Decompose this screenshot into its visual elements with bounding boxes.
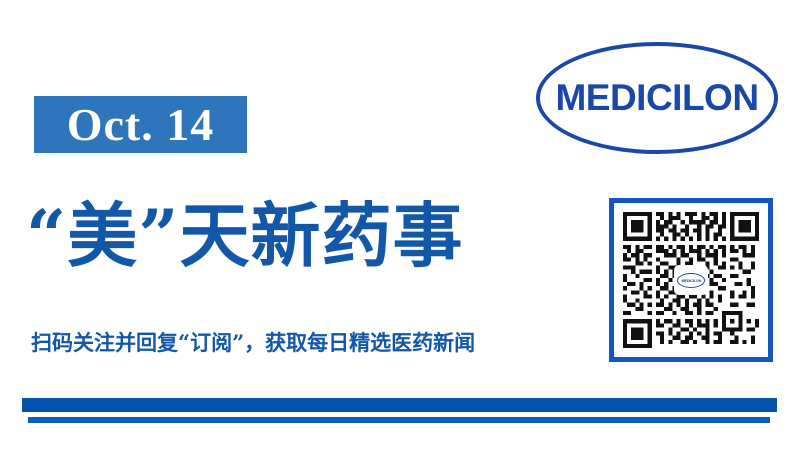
qr-center-logo-ellipse-icon: MEDICILON <box>677 273 705 288</box>
poster-canvas: MEDICILON Oct. 14 “美”天新药事 扫码关注并回复“订阅”，获取… <box>0 0 800 468</box>
date-badge-label: Oct. 14 <box>67 102 215 148</box>
qr-center-logo: MEDICILON <box>674 265 708 295</box>
qr-code-image[interactable]: MEDICILON <box>623 212 759 348</box>
logo-wordmark: MEDICILON <box>536 42 778 154</box>
qr-center-logo-wordmark: MEDICILON <box>681 278 701 283</box>
qr-code-frame[interactable]: MEDICILON <box>609 198 773 362</box>
divider-rule-thin <box>28 417 770 423</box>
page-title: “美”天新药事 <box>26 186 586 286</box>
divider-rule-thick <box>22 398 777 412</box>
subtitle-text: 扫码关注并回复“订阅”，获取每日精选医药新闻 <box>31 325 591 359</box>
date-badge: Oct. 14 <box>34 96 247 153</box>
medicilon-logo: MEDICILON <box>536 42 778 154</box>
